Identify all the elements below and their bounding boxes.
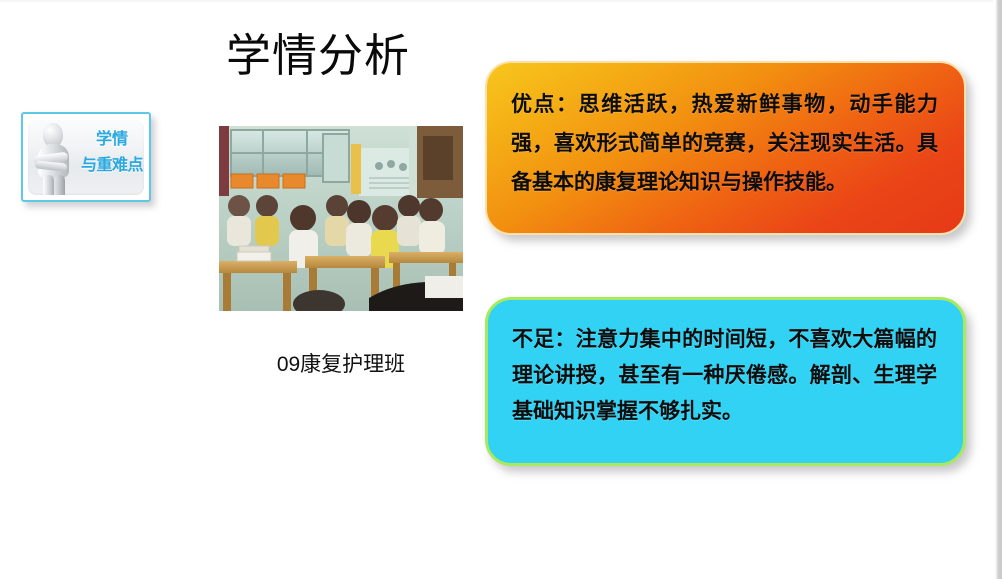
photo-caption: 09康复护理班 [219, 350, 463, 380]
side-badge-text: 学情 与重难点 [73, 127, 144, 179]
page-title: 学情分析 [226, 28, 410, 84]
callout-strengths: 优点：思维活跃，热爱新鲜事物，动手能力强，喜欢形式简单的竞赛，关注现实生活。具备… [485, 61, 966, 235]
callout-strengths-text: 优点：思维活跃，热爱新鲜事物，动手能力强，喜欢形式简单的竞赛，关注现实生活。具备… [511, 85, 938, 202]
slide-canvas: 学情分析 学情 与重难点 [0, 0, 1002, 579]
slide-frame-top-edge [0, 0, 1002, 3]
side-badge[interactable]: 学情 与重难点 [21, 112, 151, 202]
slide-frame-right-edge [993, 0, 1002, 579]
classroom-photo [219, 126, 463, 311]
person-figure-icon [30, 123, 78, 195]
side-badge-panel: 学情 与重难点 [28, 119, 144, 195]
callout-weaknesses-text: 不足：注意力集中的时间短，不喜欢大篇幅的理论讲授，甚至有一种厌倦感。解剖、生理学… [512, 322, 937, 430]
side-badge-line-2: 与重难点 [73, 153, 144, 179]
side-badge-line-1: 学情 [73, 127, 144, 153]
callout-weaknesses: 不足：注意力集中的时间短，不喜欢大篇幅的理论讲授，甚至有一种厌倦感。解剖、生理学… [485, 297, 966, 466]
